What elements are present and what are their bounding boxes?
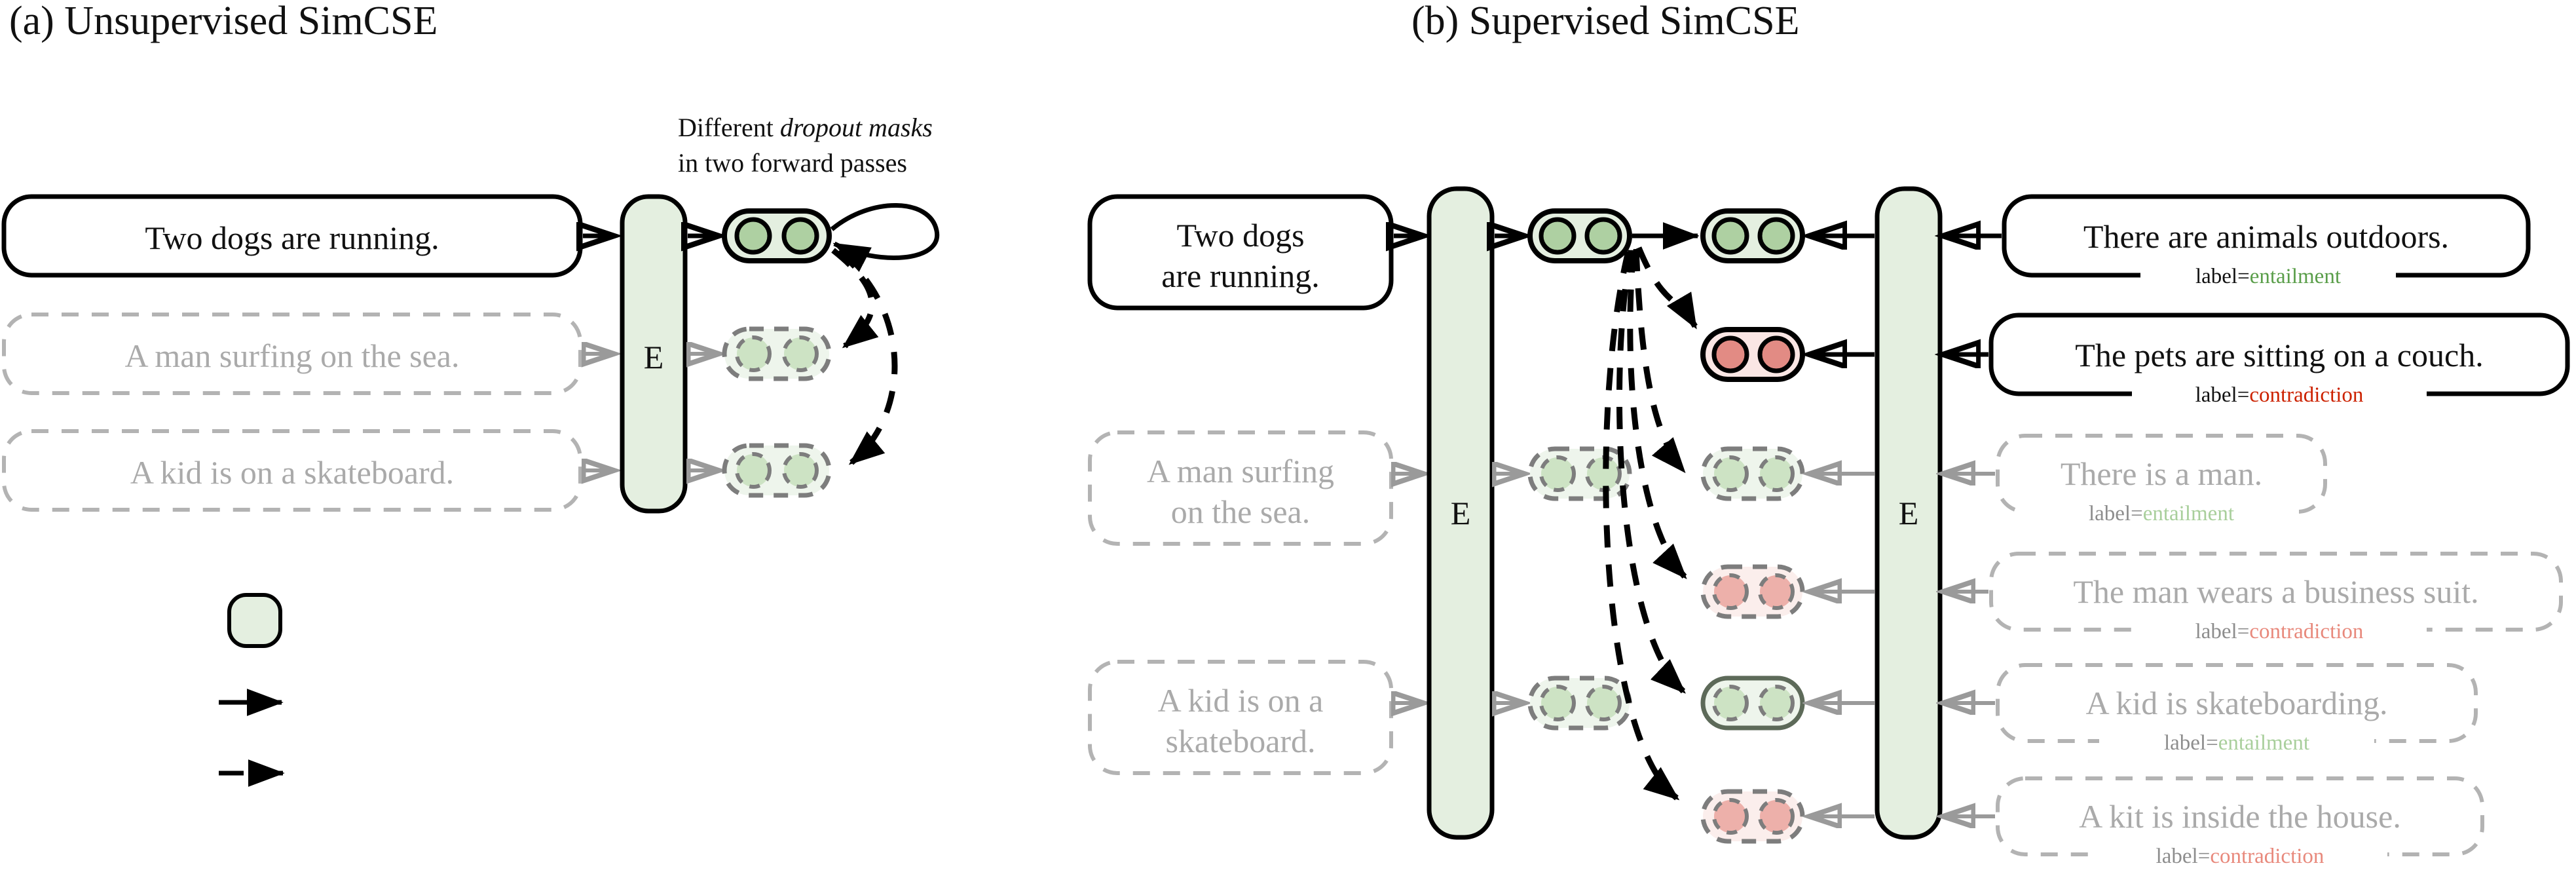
panel-a-input-text-1: Two dogs are running. [145,219,439,256]
panel-b-title: (b) Supervised SimCSE [1411,0,1799,43]
panel-b-premise-text-3a: A kid is on a [1158,682,1324,719]
panel-b-negative-arrow-1 [1639,248,1695,326]
panel-b-hypothesis-text-3: There is a man. [2061,455,2262,492]
panel-b-premise-embedding-2[interactable] [1530,449,1630,499]
panel-b-premise-text-1a: Two dogs [1176,217,1304,254]
panel-b-premise-embedding-3[interactable] [1530,678,1630,728]
panel-b-hypothesis-label-6: label=contradiction [2156,845,2324,868]
panel-a-input-text-2: A man surfing on the sea. [124,337,459,374]
dropout-annotation-line1: Different dropout masks [678,113,933,142]
panel-b-hypothesis-label-3: label=entailment [2089,502,2234,525]
legend-encoder-icon [229,595,280,646]
panel-b-hypothesis-2[interactable]: The pets are sitting on a couch. label=c… [1991,315,2567,410]
panel-a-embedding-1[interactable] [724,211,829,261]
panel-a-negative-arrow-2 [838,252,895,463]
panel-b-premise-text-3b: skateboard. [1165,723,1315,759]
panel-b-hypothesis-label-4: label=contradiction [2195,620,2364,643]
panel-b-premise-text-1b: are running. [1161,257,1320,294]
panel-b-hyp-embedding-4[interactable] [1703,567,1802,617]
panel-a-title: (a) Unsupervised SimCSE [9,0,438,43]
panel-b-premise-text-2b: on the sea. [1171,493,1310,530]
panel-b-hypothesis-text-2: The pets are sitting on a couch. [2075,337,2483,373]
dropout-annotation-line2: in two forward passes [678,148,907,178]
panel-b-premise-text-2a: A man surfing [1147,453,1334,489]
panel-b-hyp-embedding-5[interactable] [1703,678,1802,728]
panel-b-hyp-embedding-3[interactable] [1703,449,1802,499]
panel-a-embedding-2[interactable] [724,329,829,379]
panel-b-hypothesis-text-1: There are animals outdoors. [2083,218,2449,255]
panel-b-hypothesis-5[interactable]: A kid is skateboarding. label=entailment [1998,665,2476,757]
panel-b-hypothesis-label-5: label=entailment [2164,731,2309,755]
panel-b-hypothesis-1[interactable]: There are animals outdoors. label=entail… [2004,197,2528,291]
panel-b-hyp-embedding-6[interactable] [1703,791,1802,841]
panel-a-input-text-3: A kid is on a skateboard. [130,454,454,491]
panel-b-encoder-left-label: E [1451,495,1471,531]
panel-b-hyp-embedding-2[interactable] [1703,330,1802,379]
panel-b-encoder-right-label: E [1899,495,1919,531]
panel-b-hypothesis-label-1: label=entailment [2195,265,2341,288]
simcse-figure: (a) Unsupervised SimCSE Different dropou… [0,0,2576,876]
panel-a-encoder-label: E [644,339,664,375]
panel-b-hypothesis-text-5: A kid is skateboarding. [2085,685,2387,721]
panel-a-positive-self-loop [832,205,937,257]
panel-a-embedding-3[interactable] [724,446,829,495]
panel-b-hypothesis-text-4: The man wears a business suit. [2073,573,2478,610]
panel-b-hypothesis-6[interactable]: A kit is inside the house. label=contrad… [1998,778,2482,871]
panel-b-hypothesis-3[interactable]: There is a man. label=entailment [1998,436,2325,528]
panel-b-hyp-embedding-1[interactable] [1703,211,1802,261]
panel-b-premise-embedding-1[interactable] [1530,211,1630,261]
legend [219,595,283,773]
panel-b-hypothesis-text-6: A kit is inside the house. [2079,798,2401,835]
panel-b-hypothesis-label-2: label=contradiction [2195,383,2364,407]
panel-b-hypothesis-4[interactable]: The man wears a business suit. label=con… [1991,554,2561,646]
